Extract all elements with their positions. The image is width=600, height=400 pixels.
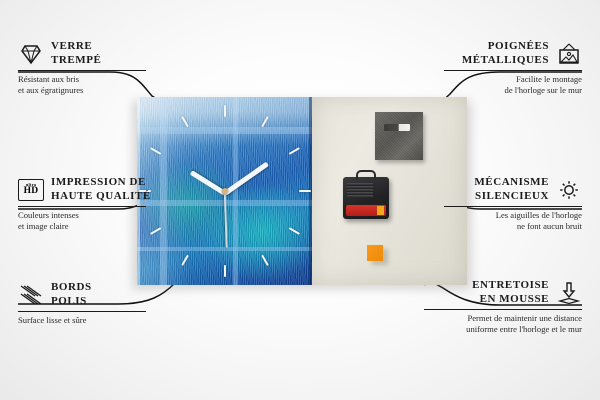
polished-edge-icon [18, 283, 44, 307]
callout-rule [18, 70, 146, 71]
callout-poignees-metalliques: POIGNÉES MÉTALLIQUES Facilite le montage… [432, 40, 582, 95]
callout-rule [444, 70, 582, 71]
callout-entretoise-en-mousse: ENTRETOISE EN MOUSSE Permet de maintenir… [412, 279, 582, 334]
callout-description: Couleurs intenses et image claire [18, 210, 158, 231]
callout-rule [18, 311, 146, 312]
callout-bords-polis: BORDS POLIS Surface lisse et sûre [18, 281, 158, 326]
hanger-keyhole-slot [384, 124, 410, 131]
callout-title-line-1: BORDS [51, 281, 92, 295]
gear-icon [556, 178, 582, 202]
callout-impression-haute-qualite: ultra HD IMPRESSION DE HAUTE QUALITÉ Cou… [18, 176, 158, 231]
ultra-hd-icon: ultra HD [18, 179, 44, 201]
callout-description: Permet de maintenir une distance uniform… [412, 313, 582, 334]
callout-title-line-1: POIGNÉES [462, 40, 549, 54]
infographic-stage: VERRE TREMPÉ Résistant aux bris et aux é… [0, 0, 600, 400]
mechanism-hanging-loop [356, 170, 376, 180]
callout-title-line-2: SILENCIEUX [474, 190, 549, 204]
clock-hand-hub [222, 188, 228, 194]
callout-title-line-2: HAUTE QUALITÉ [51, 190, 151, 204]
metal-hanger-plate [375, 112, 423, 160]
callout-title-line-1: MÉCANISME [474, 176, 549, 190]
battery [346, 205, 386, 216]
callout-rule [444, 206, 582, 207]
callout-mecanisme-silencieux: MÉCANISME SILENCIEUX Les aiguilles de l'… [432, 176, 582, 231]
callout-title-line-2: EN MOUSSE [472, 293, 549, 307]
callout-description: Facilite le montage de l'horloge sur le … [432, 74, 582, 95]
callout-title-line-1: IMPRESSION DE [51, 176, 151, 190]
callout-title-line-1: ENTRETOISE [472, 279, 549, 293]
callout-title-line-1: VERRE [51, 40, 101, 54]
callout-rule [424, 309, 582, 310]
clock-face [137, 97, 312, 285]
callout-description: Résistant aux bris et aux égratignures [18, 74, 158, 95]
diamond-icon [18, 42, 44, 66]
mechanism-ribs [347, 183, 373, 197]
callout-rule [18, 206, 146, 207]
callout-title-line-2: MÉTALLIQUES [462, 54, 549, 68]
product-photo [137, 97, 467, 285]
hanging-frame-icon [556, 42, 582, 66]
callout-title-line-2: TREMPÉ [51, 54, 101, 68]
callout-verre-trempe: VERRE TREMPÉ Résistant aux bris et aux é… [18, 40, 158, 95]
callout-description: Surface lisse et sûre [18, 315, 158, 326]
clock-mechanism [343, 177, 389, 219]
callout-description: Les aiguilles de l'horloge ne font aucun… [432, 210, 582, 231]
callout-title-line-2: POLIS [51, 295, 92, 309]
foam-spacer [367, 245, 383, 261]
foam-spacer-icon [556, 281, 582, 305]
